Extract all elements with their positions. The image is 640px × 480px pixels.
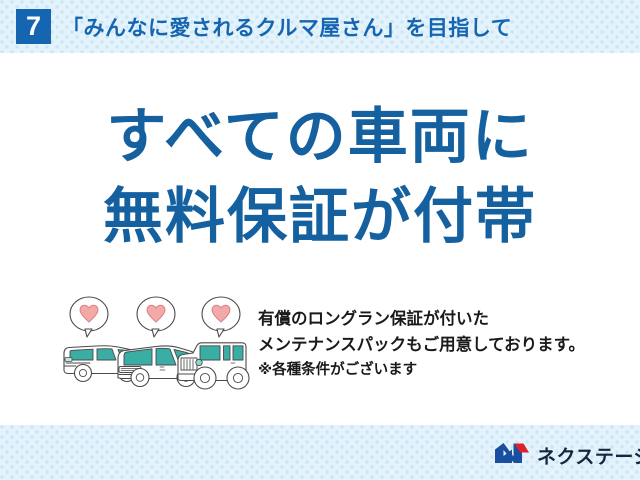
section-number-badge: 7 (16, 9, 51, 44)
description-line-1: 有償のロングラン保証が付いた (258, 306, 618, 332)
description-note: ※各種条件がございます (258, 358, 618, 383)
heart-bubble-2 (137, 297, 175, 337)
n-logo-icon (494, 441, 530, 470)
heart-bubble-3 (202, 297, 240, 337)
description-block: 有償のロングラン保証が付いた メンテナンスパックもご用意しております。 ※各種条… (258, 306, 618, 383)
brand-logo: ネクステージ (494, 440, 640, 470)
headline-line-1: すべての車両に (0, 103, 640, 171)
promo-banner: 7 「みんなに愛されるクルマ屋さん」を目指して すべての車両に 無料保証が付帯 (0, 0, 640, 480)
cars-illustration (60, 294, 255, 396)
heart-bubble-1 (70, 297, 108, 337)
description-line-2: メンテナンスパックもご用意しております。 (258, 332, 618, 358)
headline-line-2: 無料保証が付帯 (0, 183, 640, 251)
brand-logo-text: ネクステージ (537, 442, 640, 469)
header-title: 「みんなに愛されるクルマ屋さん」を目指して (62, 12, 512, 42)
